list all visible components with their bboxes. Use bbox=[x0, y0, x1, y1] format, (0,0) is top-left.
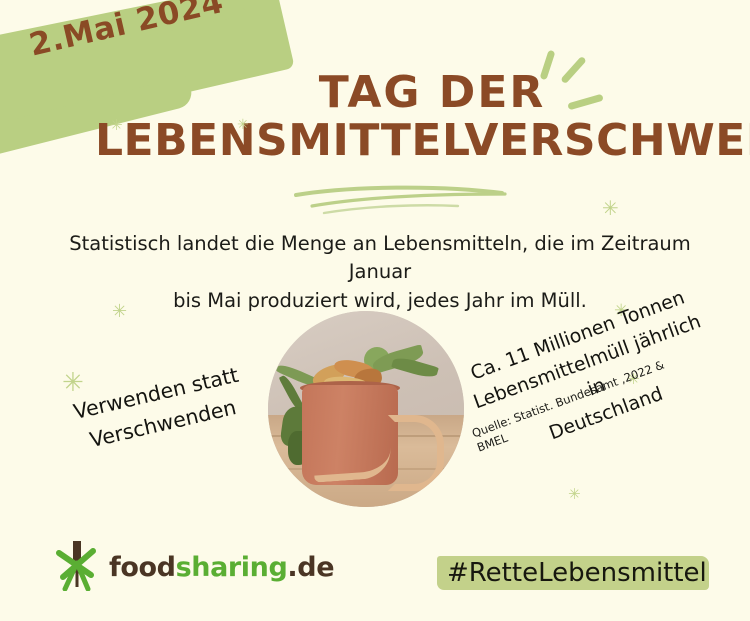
sparkle-star-icon: ✳ bbox=[112, 303, 127, 321]
poster-canvas: 2.Mai 2024 TAG DER LEBENSMITTELVERSCHWEN… bbox=[0, 0, 750, 621]
sparkle-dashes-icon bbox=[530, 48, 620, 118]
sparkle-star-icon: ✳ bbox=[602, 198, 619, 218]
fork-leaves-icon bbox=[55, 539, 99, 596]
foodsharing-logo[interactable]: foodsharing.de bbox=[55, 538, 334, 596]
title-line-2: LEBENSMITTELVERSCHWENDUNG bbox=[95, 116, 735, 165]
hashtag[interactable]: #RetteLebensmittel bbox=[443, 552, 711, 594]
hashtag-label: #RetteLebensmittel bbox=[443, 558, 711, 588]
body-paragraph: Statistisch landet die Menge an Lebensmi… bbox=[50, 230, 710, 315]
logo-wordmark: foodsharing.de bbox=[109, 552, 334, 583]
compost-bin-photo bbox=[268, 311, 464, 507]
body-line-1: Statistisch landet die Menge an Lebensmi… bbox=[69, 232, 691, 283]
sparkle-star-icon: ✳ bbox=[110, 118, 123, 133]
sparkle-star-icon: ✳ bbox=[237, 118, 249, 132]
swoosh-underline-icon bbox=[290, 182, 520, 222]
logo-part-food: food bbox=[109, 552, 176, 583]
logo-part-sharing: sharing bbox=[176, 552, 288, 583]
sparkle-star-icon: ✳ bbox=[62, 370, 84, 396]
logo-part-de: .de bbox=[287, 552, 334, 583]
sparkle-star-icon: ✳ bbox=[568, 487, 581, 502]
